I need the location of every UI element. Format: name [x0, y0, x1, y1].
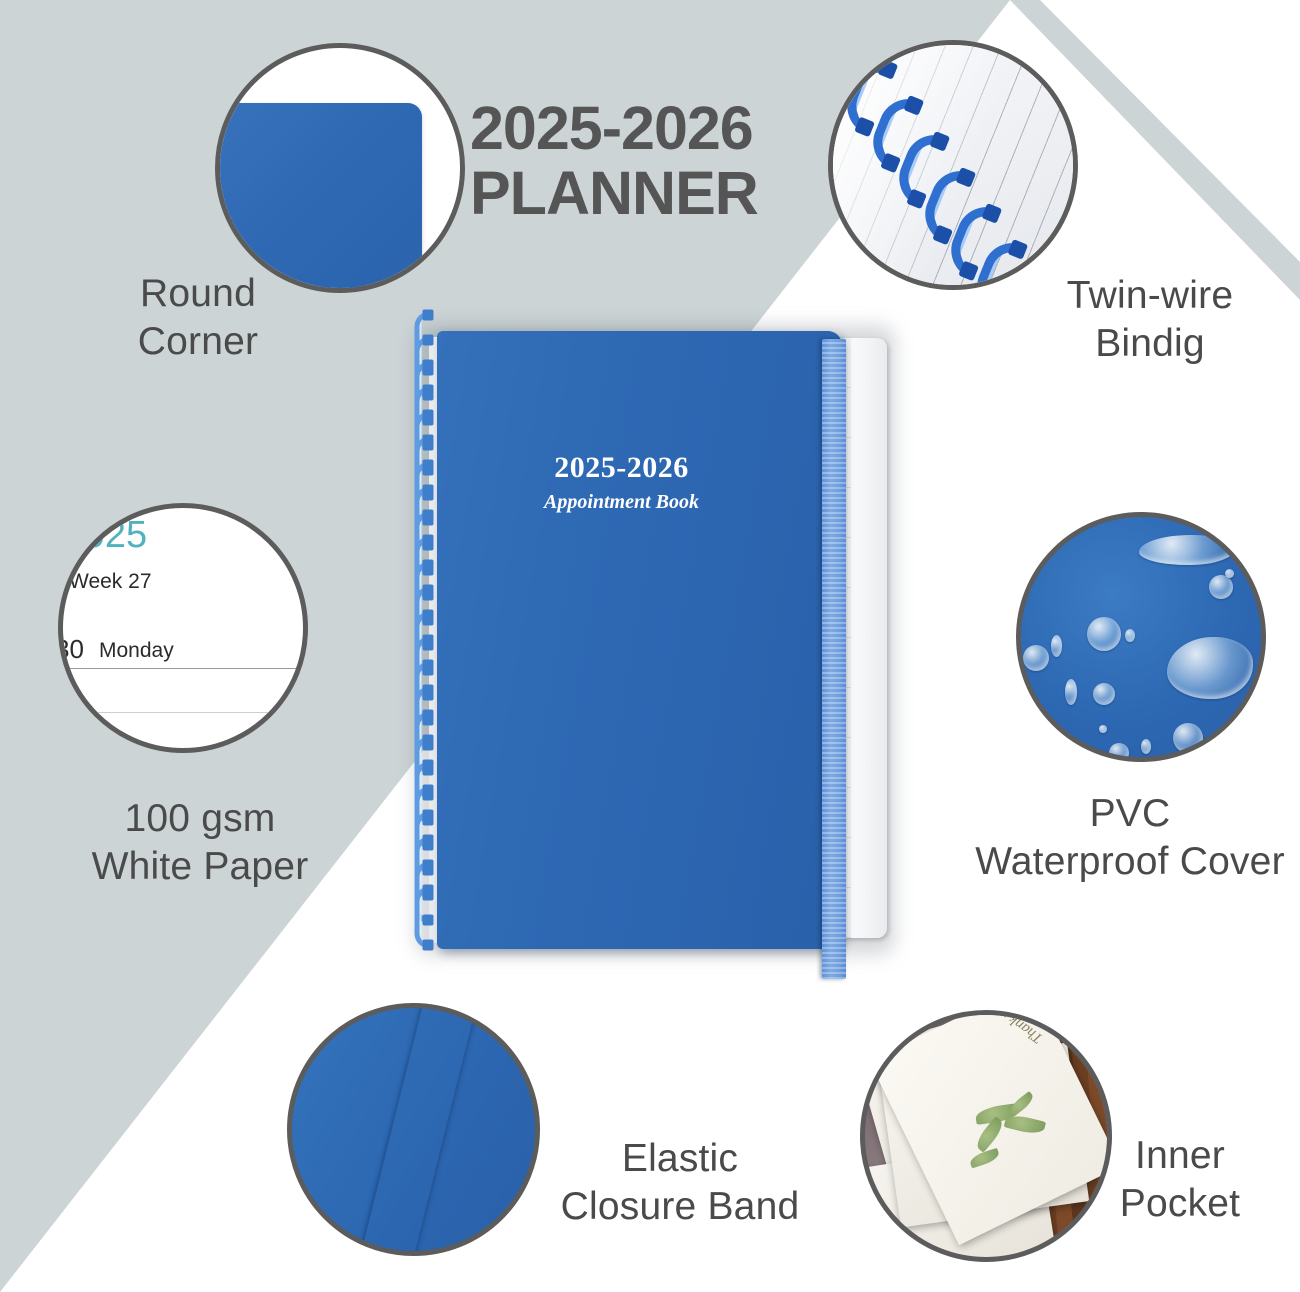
feature-circle-round-corner	[215, 43, 465, 293]
feature-label-elastic-band: Elastic Closure Band	[500, 1135, 860, 1230]
water-droplet	[1125, 629, 1135, 642]
twin-wire-spiral-binding	[385, 335, 463, 941]
water-droplet	[1087, 617, 1121, 651]
sample-week: Week 27	[69, 570, 152, 594]
water-droplet	[1167, 637, 1253, 699]
rule-line	[58, 712, 308, 713]
water-droplet	[1109, 743, 1129, 762]
sample-month: y 2025	[58, 514, 147, 557]
infographic-canvas: 2025-2026 PLANNER Round Corner Twin-wire…	[0, 0, 1300, 1292]
water-droplet	[1023, 645, 1049, 671]
water-droplet	[1209, 575, 1233, 599]
page-title: 2025-2026 PLANNER	[470, 96, 830, 225]
water-droplet	[1065, 679, 1077, 705]
cover-subtitle: Appointment Book	[437, 491, 806, 514]
feature-label-pvc-waterproof: PVC Waterproof Cover	[960, 790, 1300, 885]
rule-line	[58, 668, 308, 669]
water-droplet	[1139, 535, 1235, 565]
water-droplet	[1093, 683, 1115, 705]
elastic-strap-swatch	[340, 1003, 487, 1256]
product-planner-book: JulAugSepOctNovDecJanFebMarAprMayJun 202…	[385, 313, 905, 961]
book-front-cover: 2025-2026 Appointment Book	[437, 331, 842, 949]
page-title-line-1: 2025-2026	[470, 96, 830, 161]
rounded-corner-swatch	[215, 103, 422, 293]
leaf-icon	[1004, 1112, 1046, 1136]
feature-circle-pvc-waterproof	[1016, 512, 1266, 762]
card-thank-you-text: Thank you	[986, 1010, 1047, 1046]
water-droplet	[1173, 723, 1203, 753]
feature-label-inner-pocket: Inner Pocket	[1060, 1132, 1300, 1227]
cover-elastic-band	[822, 339, 846, 979]
sample-day-name: Monday	[99, 639, 174, 663]
water-droplet	[1051, 635, 1062, 657]
feature-label-paper: 100 gsm White Paper	[20, 795, 380, 890]
feature-label-round-corner: Round Corner	[48, 270, 348, 365]
feature-label-twin-wire: Twin-wire Bindig	[1000, 272, 1300, 367]
feature-circle-twin-wire	[828, 40, 1078, 290]
sample-day-number: 30	[58, 634, 84, 665]
water-droplet	[1225, 569, 1234, 578]
cover-title: 2025-2026	[437, 451, 806, 485]
cover-title-block: 2025-2026 Appointment Book	[437, 451, 806, 514]
water-droplet	[1099, 725, 1107, 733]
water-droplet	[1141, 739, 1151, 754]
spiral-ring-icon	[415, 887, 430, 949]
leaf-icon	[968, 1148, 1000, 1169]
paper-sample-page: y 2025 Week 27 30 Monday 7 30	[63, 508, 303, 748]
feature-circle-paper: y 2025 Week 27 30 Monday 7 30	[58, 503, 308, 753]
page-title-line-2: PLANNER	[470, 161, 830, 226]
